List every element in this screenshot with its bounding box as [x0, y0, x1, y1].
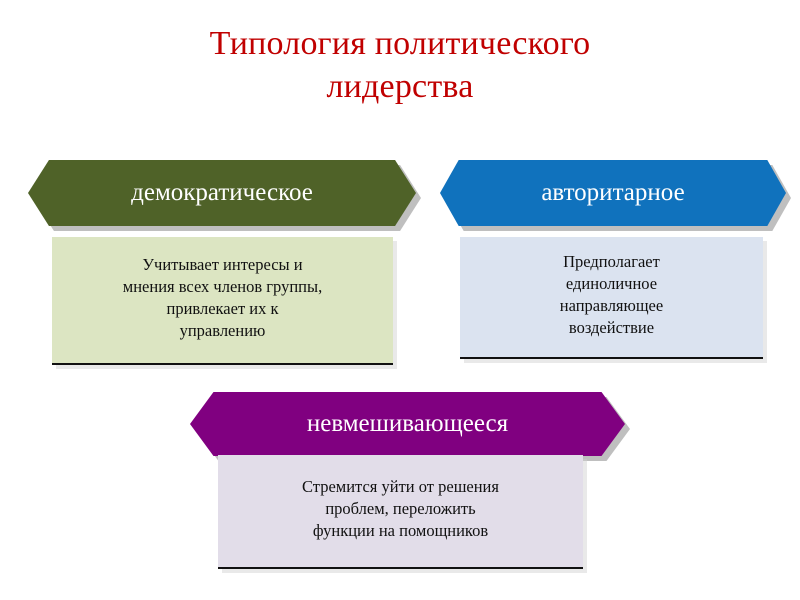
slide-canvas: Типология политического лидерства демокр… [0, 0, 800, 600]
description-democratic: Учитывает интересы и мнения всех членов … [52, 237, 393, 365]
banner-authoritarian[interactable]: авторитарное [440, 160, 786, 226]
description-noninterference: Стремится уйти от решения проблем, перел… [218, 455, 583, 569]
page-title: Типология политического лидерства [60, 22, 740, 108]
description-authoritarian: Предполагает единоличное направляющее во… [460, 237, 763, 359]
banner-noninterference[interactable]: невмешивающееся [190, 392, 625, 456]
banner-democratic[interactable]: демократическое [28, 160, 416, 226]
